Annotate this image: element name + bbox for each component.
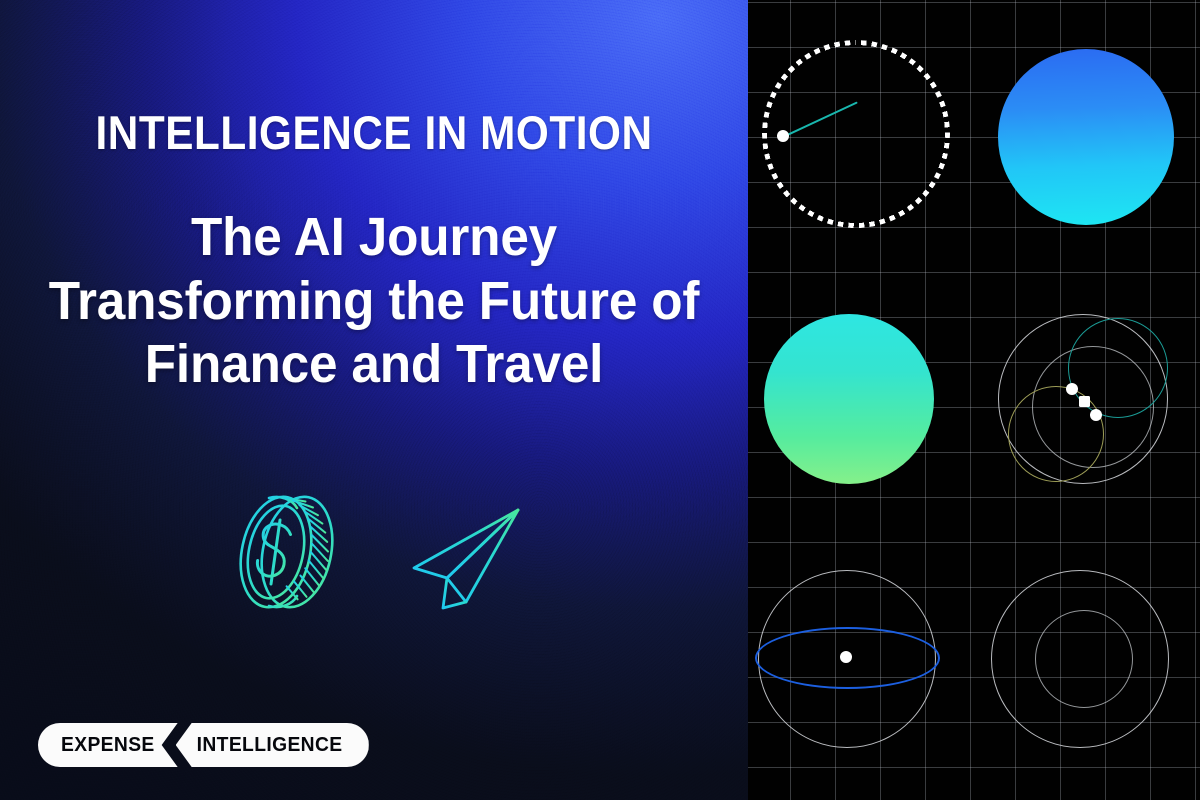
equator-sphere-cell [758,570,948,760]
dollar-coin-icon [214,482,354,622]
page-title: The AI Journey Transforming the Future o… [43,206,704,397]
paper-plane-icon [406,496,536,616]
gradient-sphere-blue [998,49,1174,225]
logo-right-label: INTELLIGENCE [196,733,342,757]
logo-left-chunk: EXPENSE [38,723,178,767]
green-sphere-cell [764,314,934,484]
decorative-icon-row [214,482,574,627]
logo-right-chunk: INTELLIGENCE [176,723,369,767]
concentric-rings-cell [991,570,1191,770]
right-graphics-panel [748,0,1200,800]
orbit-node-square [1079,396,1090,407]
brand-logo-badge[interactable]: EXPENSE INTELLIGENCE [38,723,369,767]
slide-canvas: INTELLIGENCE IN MOTION The AI Journey Tr… [0,0,1200,800]
orbit-node-dot [777,130,789,142]
dashed-orbit-cell [762,40,952,230]
concentric-inner-ring [1035,610,1133,708]
logo-left-label: EXPENSE [61,733,155,757]
headline-line-1: The AI Journey [43,206,704,270]
orbital-cluster-cell [998,310,1198,510]
eyebrow-kicker: INTELLIGENCE IN MOTION [37,108,710,157]
left-content-panel: INTELLIGENCE IN MOTION The AI Journey Tr… [0,0,748,800]
orbit-node-dot-lower [1090,409,1102,421]
headline-line-3: Finance and Travel [43,333,704,397]
blue-sphere-cell [998,49,1174,225]
orbit-node-dot-upper [1066,383,1078,395]
gradient-sphere-green [764,314,934,484]
sphere-center-dot [840,651,852,663]
headline-line-2: Transforming the Future of [43,270,704,334]
